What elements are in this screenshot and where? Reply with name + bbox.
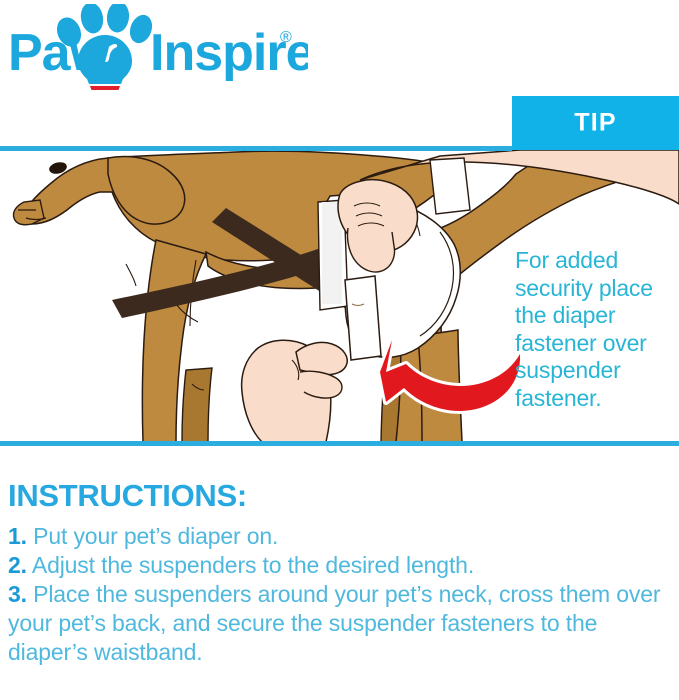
instruction-item-1: 1. Put your pet’s diaper on. (8, 522, 668, 551)
instructions-heading: INSTRUCTIONS: (8, 478, 668, 514)
tip-badge: TIP (512, 96, 679, 150)
instruction-number-1: 1. (8, 523, 27, 549)
instruction-text-3: Place the suspenders around your pet’s n… (8, 581, 660, 665)
divider-bottom (0, 441, 679, 446)
brand-trademark-symbol: ® (280, 29, 292, 46)
page-header: Paw Inspired ® (0, 0, 679, 96)
lower-hand-index-finger (296, 342, 347, 374)
tip-body-text: For added security place the diaper fast… (515, 247, 679, 412)
divider-top (0, 146, 512, 151)
upper-sleeve-cuff (430, 158, 470, 214)
dog-far-front-leg (182, 368, 212, 442)
tip-badge-label: TIP (512, 111, 679, 136)
lower-hand-middle-finger (300, 371, 342, 398)
instruction-text-1: Put your pet’s diaper on. (33, 523, 278, 549)
dog-muzzle (13, 200, 44, 225)
instruction-item-3: 3. Place the suspenders around your pet’… (8, 580, 668, 667)
instruction-number-3: 3. (8, 581, 27, 607)
brand-name-paw: Paw (8, 24, 111, 82)
brand-logo: Paw Inspired ® (8, 4, 308, 90)
instruction-number-2: 2. (8, 552, 27, 578)
paw-lightbulb-icon: Paw Inspired ® (8, 4, 308, 90)
instruction-item-2: 2. Adjust the suspenders to the desired … (8, 551, 668, 580)
instructions-section: INSTRUCTIONS: 1. Put your pet’s diaper o… (8, 478, 668, 667)
instruction-text-2: Adjust the suspenders to the desired len… (32, 552, 474, 578)
diaper-fastener-tab (345, 276, 381, 360)
